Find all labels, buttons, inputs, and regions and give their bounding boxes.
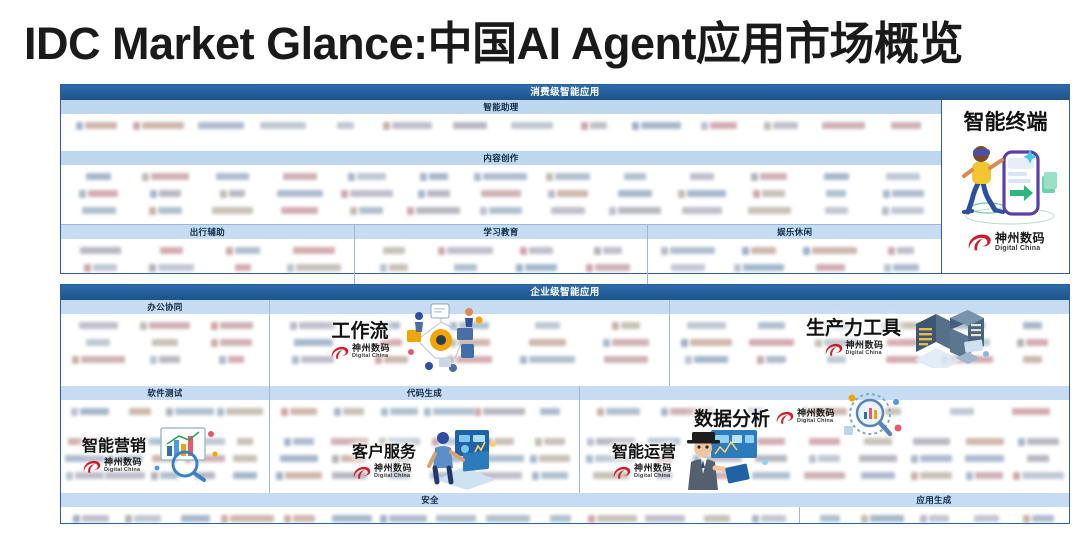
vendor-logo-mark (883, 190, 890, 198)
vendor-logo (935, 353, 1000, 366)
vendor-logo (136, 261, 207, 274)
vendor-logo-wordmark (891, 322, 922, 329)
vendor-logo-wordmark (618, 207, 661, 214)
vendor-logo (534, 187, 601, 200)
vendor-logo-wordmark (1023, 322, 1042, 329)
vendor-logo (691, 469, 744, 482)
vendor-logo (905, 469, 958, 482)
vendor-logo (439, 119, 501, 132)
vendor-logo-mark (802, 408, 809, 416)
vendor-logo (430, 336, 508, 349)
vendor-logo-wordmark (913, 438, 950, 445)
vendor-logo-wordmark (864, 438, 892, 445)
vendor-logo-mark (219, 356, 226, 364)
vendor-logo-wordmark (595, 455, 635, 462)
vendor-logo-wordmark (80, 408, 109, 415)
vendor-logo-mark (753, 190, 760, 198)
vendor-logo-mark (348, 173, 355, 181)
vendor-logo (509, 319, 587, 332)
vendor-logo-wordmark (544, 438, 565, 445)
enterprise-row-3 (61, 430, 1069, 493)
vendor-logo-mark (221, 515, 228, 523)
vendor-logo (65, 405, 115, 418)
vendor-logo-mark (217, 408, 224, 416)
vendor-logo (467, 204, 534, 217)
vendor-logo-wordmark (525, 264, 557, 271)
vendor-logo-mark (520, 247, 527, 255)
vendor-logo-wordmark (142, 122, 184, 129)
vendor-logo-wordmark (597, 515, 637, 522)
vendor-logo-mark (166, 408, 173, 416)
vendor-logo-wordmark (129, 408, 151, 415)
vendor-logo-mark (520, 356, 527, 364)
vendor-logo (803, 170, 870, 183)
vendor-logo-wordmark (290, 408, 317, 415)
vendor-logo (132, 204, 199, 217)
vendor-logo (199, 187, 266, 200)
vendor-logo (586, 512, 638, 525)
vendor-logo (637, 452, 690, 465)
vendor-logo (132, 170, 199, 183)
vendor-logo (352, 353, 430, 366)
vendor-logo-wordmark (929, 515, 949, 522)
vendor-logo (509, 336, 587, 349)
vendor-logo (333, 204, 400, 217)
vendor-logo (602, 187, 669, 200)
vendor-logo (866, 244, 937, 257)
vendor-logo-wordmark (886, 173, 920, 180)
vendor-logo-mark (383, 122, 390, 130)
vendor-logo-wordmark (86, 339, 110, 346)
vendor-logo (688, 119, 750, 132)
vendor-logo (199, 170, 266, 183)
vendor-logo-mark (432, 438, 439, 446)
vendor-logo-mark (438, 247, 445, 255)
vendor-logo-mark (211, 322, 218, 330)
vendor-logo-wordmark (710, 122, 736, 129)
vendor-logo-wordmark (758, 322, 785, 329)
vendor-logo (145, 435, 185, 448)
vendor-logo-wordmark (383, 322, 400, 329)
vendor-logo (430, 512, 482, 525)
vendor-logo (587, 319, 665, 332)
vendor-logo-wordmark (427, 190, 450, 197)
vendor-logo-wordmark (160, 472, 178, 479)
vendor-logo (198, 353, 265, 366)
vendor-logo-wordmark (656, 472, 673, 479)
vendor-logo (674, 353, 739, 366)
vendor-logo-wordmark (975, 472, 1003, 479)
vendor-logo-wordmark (551, 207, 585, 214)
vendor-logo (584, 469, 637, 482)
band-工作流 (270, 300, 669, 314)
vendor-logo-wordmark (75, 472, 103, 479)
vendor-logo (669, 170, 736, 183)
vendor-logo (739, 336, 804, 349)
vendor-logo-wordmark (893, 264, 919, 271)
vendor-logo-wordmark (195, 472, 215, 479)
vendor-logo (869, 336, 934, 349)
vendor-logo-mark (332, 455, 339, 463)
vendor-logo-wordmark (966, 438, 1004, 445)
vendor-logo-mark (882, 322, 889, 330)
vendor-logo-mark (66, 472, 73, 480)
vendor-logo (127, 119, 189, 132)
vendor-logo-mark (290, 322, 297, 330)
vendor-logo-mark (375, 356, 382, 364)
vendor-logo-wordmark (595, 264, 630, 271)
logo-grid-生产力工具 (670, 314, 1069, 386)
vendor-logo-mark (888, 247, 895, 255)
vendor-logo (798, 469, 851, 482)
vendor-logo (935, 319, 1000, 332)
vendor-logo (198, 319, 265, 332)
vendor-logo (534, 204, 601, 217)
vendor-logo (790, 405, 859, 418)
vendor-logo-wordmark (641, 122, 682, 129)
smart-terminal-panel: 智能终端 (941, 100, 1069, 273)
vendor-logo (185, 435, 225, 448)
vendor-logo (602, 170, 669, 183)
vendor-logo-wordmark (416, 207, 460, 214)
vendor-logo-mark (603, 339, 610, 347)
vendor-logo-wordmark (655, 455, 673, 462)
vendor-logo-mark (882, 207, 889, 215)
vendor-logo (736, 187, 803, 200)
band-学习教育: 学习教育 (355, 225, 648, 239)
vendor-logo (65, 435, 105, 448)
vendor-logo (117, 512, 169, 525)
vendor-logo-wordmark (454, 264, 478, 271)
vendor-logo (424, 452, 474, 465)
logo-grid-智能运营 (580, 430, 1069, 493)
vendor-logo-wordmark (486, 515, 530, 522)
vendor-logo-mark (594, 247, 601, 255)
vendor-logo (935, 336, 1000, 349)
vendor-logo-wordmark (357, 173, 387, 180)
vendor-logo-wordmark (965, 455, 1004, 462)
vendor-logo-mark (474, 173, 481, 181)
vendor-logo (65, 187, 132, 200)
brand-name-en: Digital China (995, 245, 1045, 252)
vendor-logo-wordmark (596, 438, 635, 445)
vendor-logo-wordmark (670, 408, 713, 415)
vendor-logo (65, 319, 132, 332)
vendor-logo (374, 405, 424, 418)
vendor-logo-wordmark (220, 339, 252, 346)
vendor-logo (509, 353, 587, 366)
vendor-logo-wordmark (260, 122, 306, 129)
vendor-logo-wordmark (593, 472, 629, 479)
vendor-logo-wordmark (86, 173, 111, 180)
vendor-logo (252, 119, 314, 132)
vendor-logo-wordmark (612, 339, 649, 346)
vendor-logo-wordmark (453, 122, 488, 129)
enterprise-cell-办公协同: 办公协同 (61, 300, 269, 386)
vendor-logo (274, 452, 324, 465)
vendor-logo (475, 435, 525, 448)
vendor-logo-wordmark (149, 322, 190, 329)
vendor-logo (65, 452, 105, 465)
vendor-logo-wordmark (380, 339, 402, 346)
vendor-logo-mark (693, 455, 700, 463)
vendor-logo-wordmark (152, 455, 178, 462)
vendor-logo-mark (133, 122, 140, 130)
logo-grid-软件测试 (61, 400, 269, 430)
vendor-logo-wordmark (706, 472, 738, 479)
vendor-logo-wordmark (773, 122, 798, 129)
vendor-logo-wordmark (690, 339, 732, 346)
enterprise-cell-软件测试: 软件测试 (61, 386, 269, 430)
vendor-logo (333, 187, 400, 200)
vendor-logo-mark (437, 455, 444, 463)
vendor-logo (501, 119, 563, 132)
vendor-logo-wordmark (392, 122, 432, 129)
vendor-logo (804, 512, 856, 525)
vendor-logo (105, 435, 145, 448)
vendor-logo (691, 435, 744, 448)
vendor-logo-mark (751, 173, 758, 181)
vendor-logo-wordmark (389, 264, 408, 271)
vendor-logo (584, 435, 637, 448)
vendor-logo (869, 319, 934, 332)
vendor-logo-wordmark (433, 408, 474, 415)
enterprise-row-4: 安全应用生成 (61, 493, 1069, 523)
vendor-logo-wordmark (294, 339, 333, 346)
vendor-logo (856, 512, 908, 525)
vendor-logo-wordmark (743, 264, 784, 271)
vendor-logo-wordmark (920, 472, 952, 479)
vendor-logo (563, 119, 625, 132)
vendor-logo-wordmark (950, 356, 993, 363)
vendor-logo (534, 170, 601, 183)
vendor-logo (572, 261, 643, 274)
vendor-logo-wordmark (483, 173, 527, 180)
vendor-logo-wordmark (1023, 356, 1042, 363)
vendor-logo (65, 261, 136, 274)
vendor-logo-wordmark (529, 356, 575, 363)
vendor-logo (501, 244, 572, 257)
band-生产力工具 (670, 300, 1069, 314)
vendor-logo-mark (220, 190, 227, 198)
vendor-logo-wordmark (337, 122, 354, 129)
vendor-logo-wordmark (645, 515, 685, 522)
vendor-logo (724, 261, 795, 274)
vendor-logo-mark (752, 515, 759, 523)
vendor-logo (798, 452, 851, 465)
vendor-logo-mark (516, 264, 523, 272)
vendor-logo-wordmark (887, 339, 916, 346)
band-安全: 安全 (61, 493, 799, 507)
vendor-logo-wordmark (920, 455, 951, 462)
vendor-logo (274, 469, 324, 482)
logo-grid-应用生成 (799, 507, 1069, 523)
logo-grid-工作流 (270, 314, 669, 386)
enterprise-row-1: 办公协同 (61, 300, 1069, 386)
vendor-logo-wordmark (825, 207, 848, 214)
digital-china-swoosh-icon (966, 232, 992, 252)
logo-grid-客户服务 (270, 430, 579, 493)
vendor-logo-wordmark (85, 122, 117, 129)
vendor-logo (525, 435, 575, 448)
vendor-logo-wordmark (555, 173, 590, 180)
vendor-logo (798, 435, 851, 448)
vendor-logo (314, 119, 376, 132)
vendor-logo-wordmark (603, 247, 622, 254)
vendor-logo (1012, 469, 1065, 482)
vendor-logo-wordmark (350, 190, 393, 197)
vendor-logo-mark (884, 264, 891, 272)
vendor-logo-wordmark (82, 515, 110, 522)
enterprise-row-4-logos (61, 507, 1069, 523)
vendor-logo-mark (612, 322, 619, 330)
vendor-logo (185, 452, 225, 465)
vendor-logo-wordmark (529, 339, 565, 346)
vendor-logo-wordmark (606, 408, 640, 415)
vendor-logo-wordmark (159, 356, 180, 363)
vendor-logo (851, 469, 904, 482)
logo-grid-娱乐休闲 (648, 239, 941, 273)
vendor-logo (324, 405, 374, 418)
enterprise-cell-代码生成: 代码生成 (269, 386, 579, 430)
vendor-logo-wordmark (822, 122, 864, 129)
vendor-logo-mark (341, 190, 348, 198)
enterprise-cell-数据分析 (579, 386, 1069, 430)
vendor-logo (132, 336, 199, 349)
vendor-logo-wordmark (293, 247, 335, 254)
vendor-logo (225, 435, 265, 448)
vendor-logo (639, 512, 691, 525)
vendor-logo-wordmark (1012, 408, 1050, 415)
vendor-logo-wordmark (949, 322, 985, 329)
vendor-logo-wordmark (481, 190, 521, 197)
vendor-logo-wordmark (704, 515, 730, 522)
vendor-logo-wordmark (80, 247, 120, 254)
vendor-logo-wordmark (825, 322, 858, 329)
vendor-logo-mark (211, 339, 218, 347)
vendor-logo-mark (350, 207, 357, 215)
vendor-logo-wordmark (671, 264, 705, 271)
consumer-subcategory-1: 学习教育 (354, 225, 648, 285)
vendor-logo (744, 469, 797, 482)
vendor-logo-wordmark (861, 472, 895, 479)
enterprise-section: 企业级智能应用 办公协同 软件测试代码生成 安全应用生成 (60, 284, 1070, 524)
vendor-logo-wordmark (446, 455, 462, 462)
vendor-logo-wordmark (761, 515, 786, 522)
vendor-logo (812, 119, 874, 132)
vendor-logo (674, 336, 739, 349)
vendor-logo-mark (681, 339, 688, 347)
vendor-logo (584, 405, 653, 418)
vendor-logo-wordmark (81, 356, 125, 363)
vendor-logo-mark (334, 408, 341, 416)
vendor-logo-wordmark (293, 438, 314, 445)
page-title: IDC Market Glance:中国AI Agent应用市场概览 (24, 8, 1064, 70)
vendor-logo-wordmark (485, 455, 524, 462)
vendor-logo (207, 244, 278, 257)
vendor-logo (501, 261, 572, 274)
vendor-logo-mark (697, 472, 704, 480)
vendor-logo (869, 353, 934, 366)
vendor-logo-mark (587, 438, 594, 446)
vendor-logo-wordmark (950, 408, 975, 415)
vendor-logo (744, 435, 797, 448)
vendor-logo-wordmark (359, 207, 383, 214)
vendor-logo-wordmark (953, 339, 989, 346)
vendor-logo-wordmark (824, 173, 849, 180)
vendor-logo (274, 319, 352, 332)
vendor-logo-mark (911, 455, 918, 463)
vendor-logo (870, 170, 937, 183)
vendor-logo-mark (72, 356, 79, 364)
vendor-logo-wordmark (79, 322, 118, 329)
vendor-logo-wordmark (341, 455, 366, 462)
enterprise-cell-智能营销 (61, 430, 269, 493)
vendor-logo-mark (480, 207, 487, 215)
vendor-logo (374, 452, 424, 465)
vendor-logo (1000, 336, 1065, 349)
vendor-logo-wordmark (892, 190, 925, 197)
vendor-logo (691, 452, 744, 465)
vendor-logo-mark (609, 207, 616, 215)
enterprise-cell-智能运营 (579, 430, 1069, 493)
vendor-logo (851, 435, 904, 448)
vendor-logo-wordmark (886, 356, 919, 363)
vendor-logo (875, 119, 937, 132)
vendor-logo (870, 187, 937, 200)
vendor-logo-wordmark (540, 408, 560, 415)
vendor-logo-wordmark (193, 455, 225, 462)
vendor-logo (958, 469, 1011, 482)
vendor-logo (376, 119, 438, 132)
vendor-logo (721, 405, 790, 418)
vendor-logo-wordmark (494, 438, 515, 445)
vendor-logo (145, 452, 185, 465)
vendor-logo (1000, 319, 1065, 332)
vendor-logo-wordmark (233, 472, 257, 479)
vendor-logo (958, 452, 1011, 465)
vendor-logo (132, 187, 199, 200)
vendor-logo (870, 204, 937, 217)
vendor-logo (637, 469, 690, 482)
vendor-logo (352, 319, 430, 332)
vendor-logo-mark (701, 122, 708, 130)
vendor-logo-wordmark (235, 247, 260, 254)
vendor-logo-wordmark (539, 455, 570, 462)
vendor-logo-wordmark (237, 438, 254, 445)
vendor-logo-mark (475, 408, 482, 416)
vendor-logo (324, 469, 374, 482)
vendor-logo-wordmark (709, 438, 726, 445)
vendor-logo-mark (380, 515, 387, 523)
vendor-logo (652, 244, 723, 257)
logo-grid-数据分析 (580, 400, 1069, 430)
vendor-logo-wordmark (343, 408, 364, 415)
vendor-logo-wordmark (441, 438, 468, 445)
vendor-logo-mark (185, 438, 191, 446)
consumer-subcategory-row: 出行辅助学习教育娱乐休闲 (61, 224, 941, 285)
vendor-logo-mark (941, 356, 948, 364)
band-代码生成: 代码生成 (270, 386, 579, 400)
vendor-logo (744, 452, 797, 465)
vendor-logo-wordmark (827, 356, 846, 363)
vendor-logo (324, 452, 374, 465)
vendor-logo (653, 405, 722, 418)
vendor-logo-wordmark (1027, 438, 1059, 445)
vendor-logo-wordmark (158, 264, 194, 271)
vendor-logo-mark (1017, 339, 1024, 347)
vendor-logo (105, 469, 145, 482)
